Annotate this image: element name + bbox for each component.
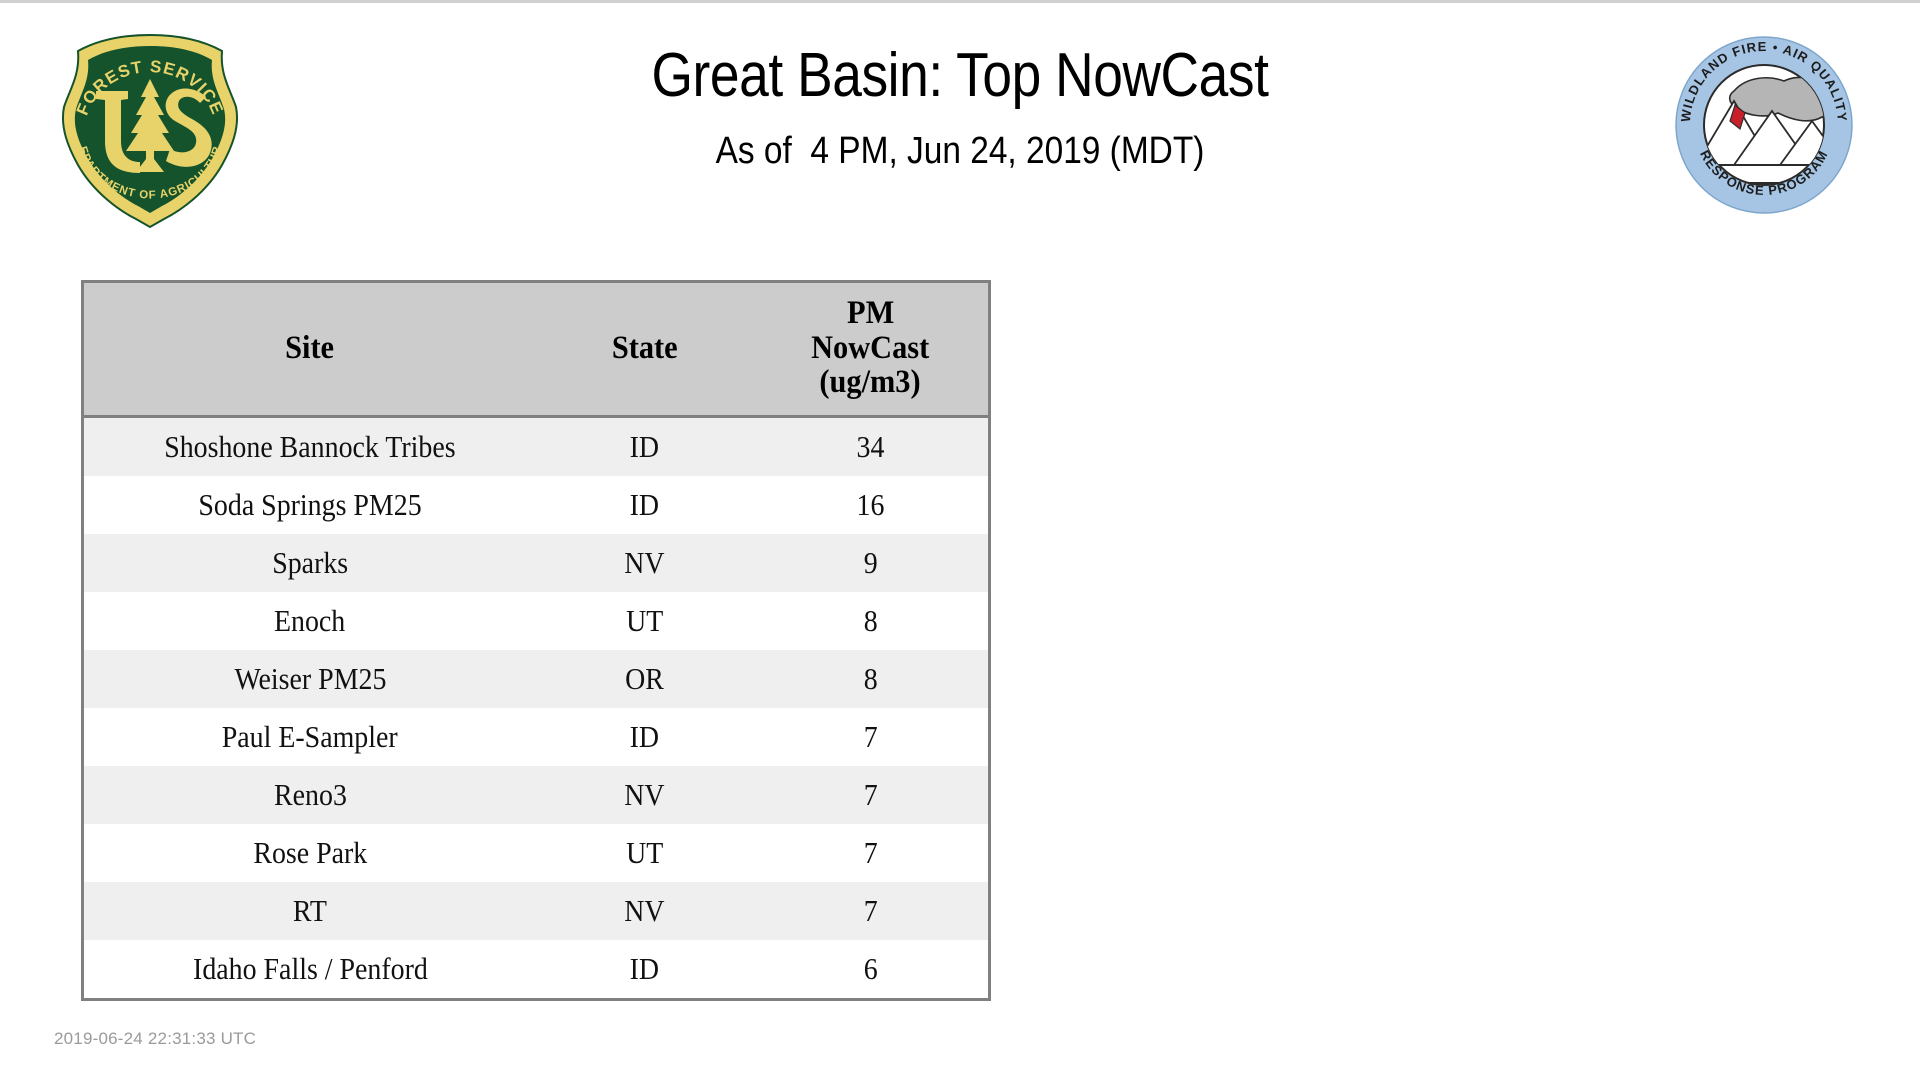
table-body: Shoshone Bannock TribesID34Soda Springs … xyxy=(84,417,988,999)
table-row: RTNV7 xyxy=(84,882,988,940)
table-cell-pm-value: 34 xyxy=(857,429,885,465)
table-cell-state-value: NV xyxy=(624,777,664,813)
table-cell-state-value: ID xyxy=(630,429,659,465)
table-cell-state: ID xyxy=(536,476,753,534)
usfs-shield-icon: FOREST SERVICE DEPARTMENT OF AGRICULTURE xyxy=(50,31,250,231)
table-cell-pm-value: 6 xyxy=(863,951,877,987)
table-cell-site-value: Reno3 xyxy=(274,777,347,813)
table-header-row: Site State PM NowCast (ug/m3) xyxy=(84,283,988,417)
table-cell-site-value: Enoch xyxy=(274,603,345,639)
table-row: Weiser PM25OR8 xyxy=(84,650,988,708)
table-cell-state: ID xyxy=(536,417,753,477)
title-block: Great Basin: Top NowCast As of 4 PM, Jun… xyxy=(300,43,1620,173)
table-cell-state: OR xyxy=(536,650,753,708)
table-cell-state-value: ID xyxy=(630,951,659,987)
footer-timestamp: 2019-06-24 22:31:33 UTC xyxy=(54,1029,256,1049)
header-band: FOREST SERVICE DEPARTMENT OF AGRICULTURE… xyxy=(0,3,1920,263)
table-row: EnochUT8 xyxy=(84,592,988,650)
top-nowcast-table: Site State PM NowCast (ug/m3) Shoshone B… xyxy=(84,283,988,998)
table-cell-state: UT xyxy=(536,824,753,882)
column-header-pm-nowcast: PM NowCast (ug/m3) xyxy=(753,283,988,417)
table-cell-state-value: UT xyxy=(626,835,663,871)
table-cell-pm-value: 8 xyxy=(863,603,877,639)
column-header-site-label: Site xyxy=(286,331,335,366)
table-row: Soda Springs PM25ID16 xyxy=(84,476,988,534)
table-cell-state-value: ID xyxy=(630,719,659,755)
table-cell-site-value: Rose Park xyxy=(253,835,367,871)
table-cell-pm: 34 xyxy=(753,417,988,477)
table-cell-pm: 7 xyxy=(753,824,988,882)
table-cell-state-value: NV xyxy=(624,545,664,581)
column-header-site: Site xyxy=(84,283,536,417)
table-cell-site-value: RT xyxy=(293,893,327,929)
table-cell-state: NV xyxy=(536,882,753,940)
table-cell-site: Rose Park xyxy=(84,824,536,882)
table-cell-site-value: Shoshone Bannock Tribes xyxy=(164,429,455,465)
table-cell-site: Shoshone Bannock Tribes xyxy=(84,417,536,477)
table-header: Site State PM NowCast (ug/m3) xyxy=(84,283,988,417)
table-cell-site-value: Paul E-Sampler xyxy=(222,719,398,755)
table-cell-site-value: Soda Springs PM25 xyxy=(198,487,421,523)
table-cell-pm: 8 xyxy=(753,650,988,708)
table-row: Shoshone Bannock TribesID34 xyxy=(84,417,988,477)
table-cell-site: Soda Springs PM25 xyxy=(84,476,536,534)
table-cell-site: Enoch xyxy=(84,592,536,650)
table-cell-pm: 8 xyxy=(753,592,988,650)
table-cell-site-value: Sparks xyxy=(272,545,348,581)
column-header-state: State xyxy=(536,283,753,417)
table-cell-state: ID xyxy=(536,708,753,766)
column-header-state-label: State xyxy=(612,331,678,366)
table-cell-pm: 16 xyxy=(753,476,988,534)
table-cell-site: Weiser PM25 xyxy=(84,650,536,708)
top-nowcast-table-container: Site State PM NowCast (ug/m3) Shoshone B… xyxy=(81,280,991,1001)
table-cell-site-value: Idaho Falls / Penford xyxy=(193,951,428,987)
table-row: Reno3NV7 xyxy=(84,766,988,824)
table-cell-pm-value: 7 xyxy=(863,835,877,871)
table-cell-pm: 7 xyxy=(753,882,988,940)
table-cell-pm: 7 xyxy=(753,766,988,824)
table-row: Rose ParkUT7 xyxy=(84,824,988,882)
table-cell-state-value: NV xyxy=(624,893,664,929)
table-cell-pm-value: 16 xyxy=(857,487,885,523)
table-cell-site: RT xyxy=(84,882,536,940)
table-cell-pm-value: 9 xyxy=(863,545,877,581)
table-cell-pm-value: 7 xyxy=(863,719,877,755)
table-cell-site: Reno3 xyxy=(84,766,536,824)
page-title: Great Basin: Top NowCast xyxy=(392,43,1527,108)
table-cell-state: NV xyxy=(536,534,753,592)
table-cell-state: UT xyxy=(536,592,753,650)
table-row: SparksNV9 xyxy=(84,534,988,592)
page-subtitle: As of 4 PM, Jun 24, 2019 (MDT) xyxy=(379,130,1541,173)
column-header-pm-line-1: PM xyxy=(847,296,894,331)
table-cell-state-value: UT xyxy=(626,603,663,639)
table-cell-pm: 6 xyxy=(753,940,988,998)
table-cell-site: Paul E-Sampler xyxy=(84,708,536,766)
wildland-fire-air-quality-icon: WILDLAND FIRE • AIR QUALITY RESPONSE PRO… xyxy=(1672,33,1856,217)
table-row: Paul E-SamplerID7 xyxy=(84,708,988,766)
column-header-pm-line-3: (ug/m3) xyxy=(820,365,921,400)
table-cell-state-value: OR xyxy=(625,661,664,697)
table-cell-pm-value: 8 xyxy=(863,661,877,697)
table-cell-pm: 9 xyxy=(753,534,988,592)
table-row: Idaho Falls / PenfordID6 xyxy=(84,940,988,998)
table-cell-state-value: ID xyxy=(630,487,659,523)
table-cell-pm-value: 7 xyxy=(863,893,877,929)
table-cell-site-value: Weiser PM25 xyxy=(234,661,386,697)
table-cell-pm: 7 xyxy=(753,708,988,766)
column-header-pm-line-2: NowCast xyxy=(811,331,929,366)
table-cell-state: NV xyxy=(536,766,753,824)
table-cell-site: Sparks xyxy=(84,534,536,592)
table-cell-state: ID xyxy=(536,940,753,998)
table-cell-pm-value: 7 xyxy=(863,777,877,813)
table-cell-site: Idaho Falls / Penford xyxy=(84,940,536,998)
